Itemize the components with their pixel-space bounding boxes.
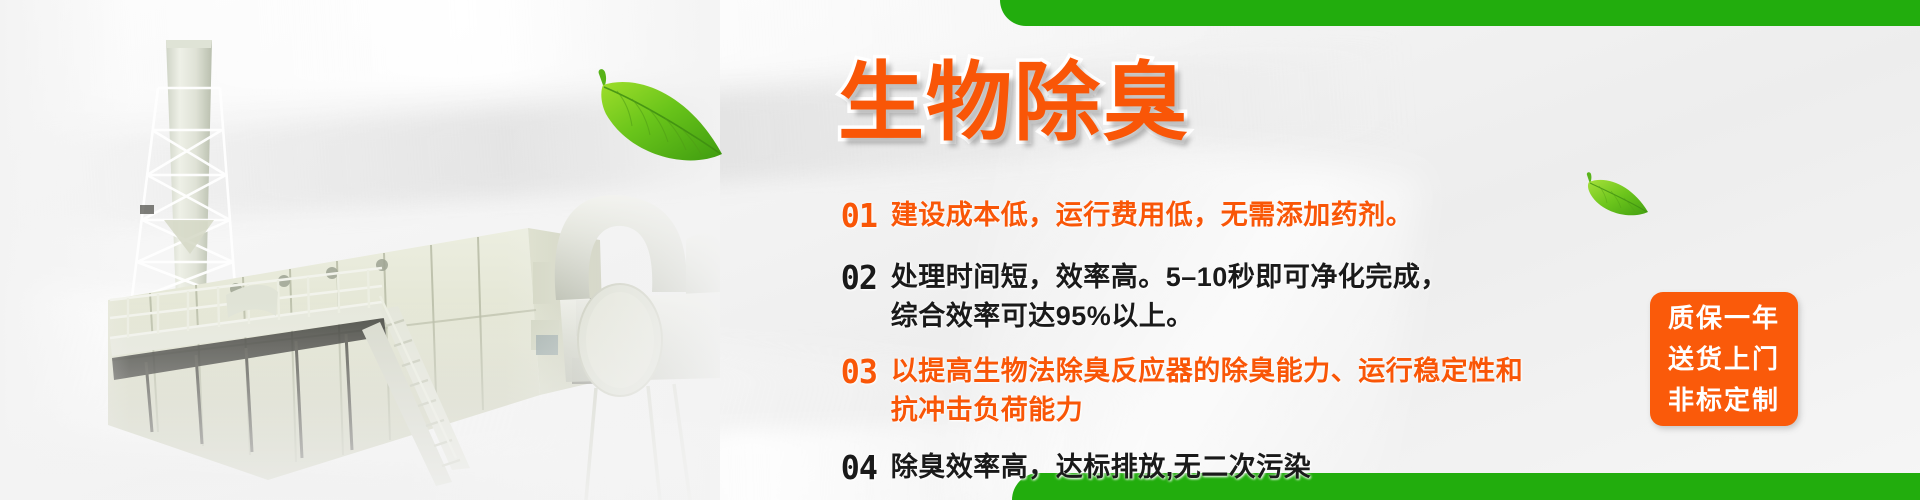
- feature-text: 处理时间短，效率高。5–10秒即可净化完成， 综合效率可达95%以上。: [891, 258, 1448, 336]
- feature-text: 以提高生物法除臭反应器的除臭能力、运行稳定性和 抗冲击负荷能力: [891, 352, 1524, 430]
- feature-number: 03: [841, 352, 877, 392]
- badge-line-custom: 非标定制: [1668, 380, 1780, 421]
- feature-text: 建设成本低，运行费用低，无需添加药剂。: [891, 196, 1414, 235]
- promo-banner: 生物除臭 01 建设成本低，运行费用低，无需添加药剂。 02 处理时间短，效率高…: [0, 0, 1920, 500]
- feature-item-02: 02 处理时间短，效率高。5–10秒即可净化完成， 综合效率可达95%以上。: [840, 258, 1680, 336]
- feature-list: 01 建设成本低，运行费用低，无需添加药剂。 02 处理时间短，效率高。5–10…: [840, 196, 1680, 488]
- feature-number: 02: [841, 258, 877, 298]
- feature-item-03: 03 以提高生物法除臭反应器的除臭能力、运行稳定性和 抗冲击负荷能力: [840, 352, 1680, 430]
- badge-line-delivery: 送货上门: [1668, 339, 1780, 380]
- page-title: 生物除臭: [838, 58, 1190, 148]
- green-accent-bar-top: [1000, 0, 1920, 26]
- feature-text: 除臭效率高，达标排放,无二次污染: [891, 448, 1312, 487]
- service-guarantee-badge[interactable]: 质保一年 送货上门 非标定制: [1650, 292, 1798, 426]
- feature-number: 04: [841, 448, 877, 488]
- feature-item-04: 04 除臭效率高，达标排放,无二次污染: [840, 448, 1680, 488]
- feature-number: 01: [841, 196, 877, 236]
- leaf-icon: [570, 58, 735, 188]
- feature-item-01: 01 建设成本低，运行费用低，无需添加药剂。: [840, 196, 1680, 236]
- badge-line-warranty: 质保一年: [1668, 298, 1780, 339]
